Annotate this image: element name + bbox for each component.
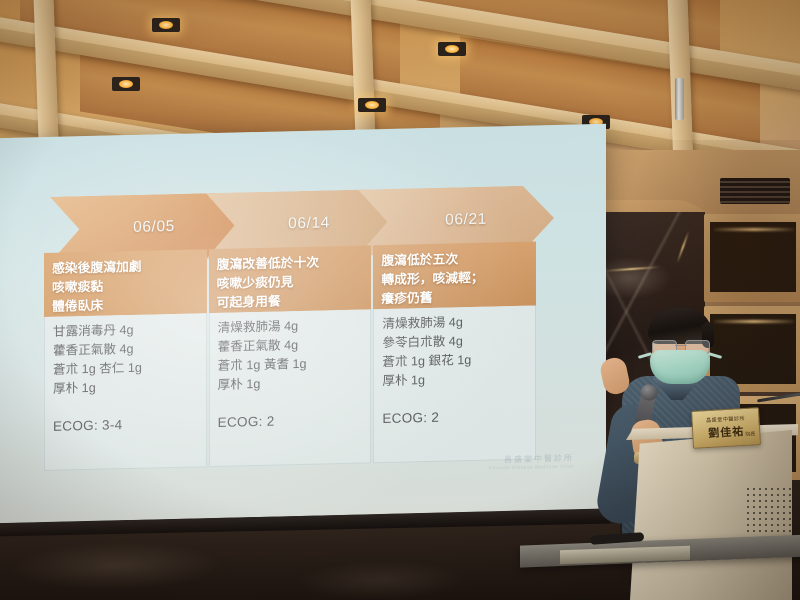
photo-scene: 06/05 06/14 06/21 感染後腹瀉加劇 咳嗽痰黏 體倦臥床: [0, 0, 800, 600]
symptom-line: 可起身用餐: [217, 289, 365, 311]
ceiling-downlight: [152, 18, 180, 32]
ceiling-downlight: [358, 98, 386, 112]
visit-column-3: 腹瀉低於五次 轉成形，咳減輕； 癢疹仍舊 清燥救肺湯 4g 參苓白朮散 4g 蒼…: [373, 241, 536, 463]
watermark-english: Flourish Chinese Medicine clinic: [489, 464, 574, 471]
visit-column-2: 腹瀉改善低於十次 咳嗽少痰仍見 可起身用餐 清燥救肺湯 4g 藿香正氣散 4g …: [209, 245, 372, 467]
projection-screen: 06/05 06/14 06/21 感染後腹瀉加劇 咳嗽痰黏 體倦臥床: [0, 124, 606, 523]
podium-nameplate: 昌盛堂中醫診所 劉佳祐 院長: [691, 407, 761, 449]
ecog-score-2: ECOG: 2: [218, 410, 363, 432]
symptom-header-1: 感染後腹瀉加劇 咳嗽痰黏 體倦臥床: [44, 249, 207, 317]
prescription-body-1: 甘露消毒丹 4g 藿香正氣散 4g 蒼朮 1g 杏仁 1g 厚朴 1g ECOG…: [44, 313, 207, 471]
podium-speaker-grill: [745, 486, 795, 532]
speaker-hair: [648, 308, 712, 344]
ecog-score-3: ECOG: 2: [382, 406, 527, 428]
visit-column-1: 感染後腹瀉加劇 咳嗽痰黏 體倦臥床 甘露消毒丹 4g 藿香正氣散 4g 蒼朮 1…: [44, 249, 207, 471]
timeline-date-3: 06/21: [445, 211, 487, 230]
sprinkler-head: [675, 78, 684, 120]
nameplate-name: 劉佳祐: [708, 423, 745, 441]
slide-watermark: 昌盛堂中醫診所 Flourish Chinese Medicine clinic: [489, 453, 574, 471]
symptom-header-3: 腹瀉低於五次 轉成形，咳減輕； 癢疹仍舊: [373, 241, 536, 309]
prescription-line: 厚朴 1g: [53, 376, 198, 398]
ecog-score-1: ECOG: 3-4: [53, 413, 198, 435]
prescription-line: 厚朴 1g: [218, 373, 363, 395]
timeline-date-1: 06/05: [133, 218, 175, 237]
nameplate-title: 院長: [745, 430, 755, 438]
prescription-body-3: 清燥救肺湯 4g 參苓白朮散 4g 蒼朮 1g 銀花 1g 厚朴 1g ECOG…: [373, 305, 536, 463]
ceiling-downlight: [112, 77, 140, 91]
symptom-line: 體倦臥床: [52, 293, 200, 315]
prescription-line: 厚朴 1g: [382, 369, 527, 391]
presentation-slide: 06/05 06/14 06/21 感染後腹瀉加劇 咳嗽痰黏 體倦臥床: [8, 140, 586, 492]
visit-comparison-table: 感染後腹瀉加劇 咳嗽痰黏 體倦臥床 甘露消毒丹 4g 藿香正氣散 4g 蒼朮 1…: [44, 241, 536, 471]
symptom-header-2: 腹瀉改善低於十次 咳嗽少痰仍見 可起身用餐: [209, 245, 372, 313]
ceiling-downlight: [438, 42, 466, 56]
face-mask: [650, 350, 710, 384]
prescription-body-2: 清燥救肺湯 4g 藿香正氣散 4g 蒼朮 1g 黃耆 1g 厚朴 1g ECOG…: [209, 309, 372, 467]
timeline-date-2: 06/14: [288, 214, 330, 233]
symptom-line: 癢疹仍舊: [381, 286, 529, 308]
